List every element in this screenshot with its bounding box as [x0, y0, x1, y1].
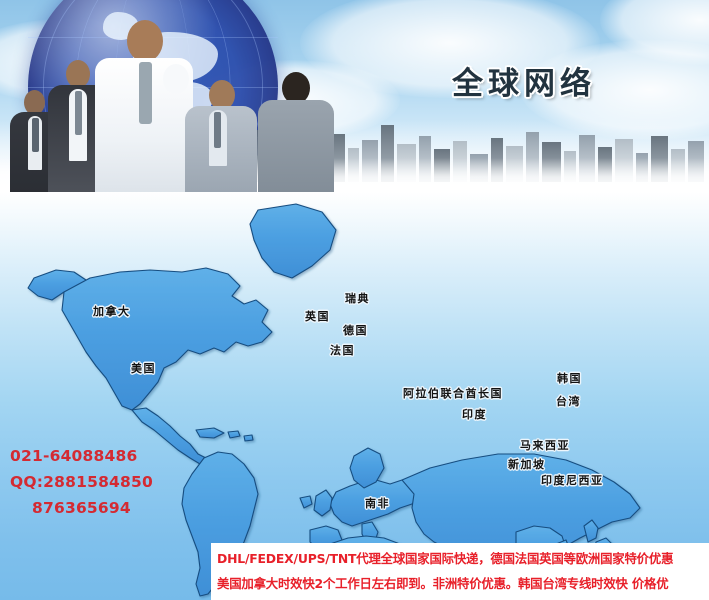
- landmass-group: [28, 204, 700, 600]
- person-silhouette: [258, 72, 336, 200]
- map-label-germany: 德国: [343, 322, 368, 338]
- header-banner: 全球网络: [0, 0, 709, 200]
- map-label-malaysia: 马来西亚: [520, 437, 570, 453]
- page-root: 全球网络: [0, 0, 709, 600]
- map-label-usa: 美国: [131, 360, 156, 376]
- map-label-canada: 加拿大: [93, 303, 131, 319]
- contact-qq-primary: QQ:2881584850: [10, 469, 153, 495]
- map-label-taiwan: 台湾: [556, 393, 581, 409]
- person-silhouette: [95, 20, 195, 200]
- map-label-india: 印度: [462, 406, 487, 422]
- promo-line-2: 美国加拿大时效快2个工作日左右即到。非洲特价优惠。韩国台湾专线时效快 价格优: [217, 574, 668, 592]
- world-map: 加拿大 美国 瑞典 英国 德国 法国 阿拉伯联合酋长国 印度 韩国 台湾 马来西…: [0, 192, 709, 600]
- map-label-indonesia: 印度尼西亚: [541, 472, 604, 488]
- map-label-uae: 阿拉伯联合酋长国: [403, 385, 503, 401]
- cloud-shape: [600, 0, 709, 65]
- contact-info: 021-64088486 QQ:2881584850 876365694: [10, 443, 153, 521]
- map-label-france: 法国: [330, 342, 355, 358]
- world-map-svg: [0, 192, 709, 600]
- contact-qq-secondary: 876365694: [10, 495, 153, 521]
- map-label-singapore: 新加坡: [508, 456, 546, 472]
- map-label-uk: 英国: [305, 308, 330, 324]
- promo-line-1: DHL/FEDEX/UPS/TNT代理全球国家国际快递，德国法国英国等欧洲国家特…: [217, 549, 673, 567]
- contact-phone: 021-64088486: [10, 443, 153, 469]
- map-label-korea: 韩国: [557, 370, 582, 386]
- person-silhouette: [185, 80, 259, 200]
- promo-banner: DHL/FEDEX/UPS/TNT代理全球国家国际快递，德国法国英国等欧洲国家特…: [211, 543, 709, 600]
- map-label-sweden: 瑞典: [345, 290, 370, 306]
- map-label-south-africa: 南非: [365, 495, 390, 511]
- page-title: 全球网络: [452, 58, 596, 103]
